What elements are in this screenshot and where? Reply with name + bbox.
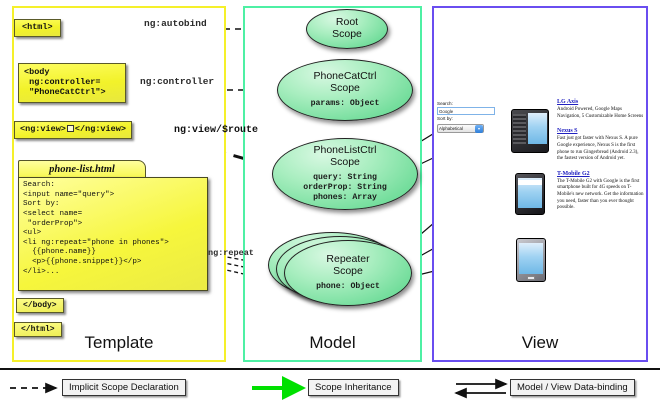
chevron-down-icon: ▾ (475, 125, 483, 133)
edge-label-controller: ng:controller (140, 76, 214, 87)
phone-thumbnail-tmobile-g2 (516, 238, 546, 282)
edge-label-repeat: ng:repeat (208, 248, 254, 258)
phone-snippet: The T-Mobile G2 with Google is the first… (557, 179, 645, 212)
note-code-body: Search: <input name="query"> Sort by: <s… (18, 177, 208, 291)
scope-root: Root Scope (306, 9, 388, 49)
list-item[interactable]: T-Mobile G2 The T-Mobile G2 with Google … (557, 171, 645, 212)
phone-list-note: phone-list.html Search: <input name="que… (18, 160, 208, 298)
sort-label: Sort by: (437, 116, 499, 122)
scope-repeater: Repeater Scope phone: Object (284, 240, 412, 306)
column-label-view: View (432, 333, 648, 353)
edge-label-autobind: ng:autobind (144, 18, 207, 29)
scope-phonelistctrl: PhoneListCtrl Scope query: String orderP… (272, 138, 418, 210)
code-box-body-open: <body ng:controller= "PhoneCatCtrl"> (18, 63, 126, 103)
legend-divider (0, 368, 660, 370)
phone-snippet: Fast just got faster with Nexus S. A pur… (557, 136, 645, 163)
code-box-body-close: </body> (16, 298, 64, 313)
scope-repeater-title: Repeater Scope (326, 254, 369, 278)
scope-root-title: Root Scope (332, 17, 362, 41)
edge-label-route: ng:view/$route (174, 125, 258, 136)
phone-thumbnail-lg-axis (511, 109, 549, 153)
view-search-form: Search: Google Sort by: Alphabetical ▾ (437, 101, 499, 133)
ngview-close-tag: </ng:view> (75, 124, 126, 134)
list-item[interactable]: Nexus S Fast just got faster with Nexus … (557, 128, 645, 163)
scope-phonecatctrl-props: params: Object (311, 99, 380, 109)
sort-select-value: Alphabetical (439, 125, 463, 133)
diagram-canvas: Template Model View <html> <body ng:cont… (0, 0, 660, 405)
legend-label-inheritance: Scope Inheritance (308, 379, 399, 396)
note-filename-tab: phone-list.html (18, 160, 146, 178)
sort-select[interactable]: Alphabetical ▾ (437, 124, 484, 133)
scope-phonecatctrl: PhoneCatCtrl Scope params: Object (277, 59, 413, 121)
ngview-placeholder-icon (67, 125, 74, 132)
phone-list: LG Axis Android Powered, Google Maps Nav… (557, 99, 645, 220)
code-box-ngview: <ng:view></ng:view> (14, 121, 132, 139)
code-box-html-open: <html> (14, 19, 61, 37)
code-box-html-close: </html> (14, 322, 62, 337)
legend: Implicit Scope Declaration Scope Inherit… (0, 374, 660, 404)
ngview-open-tag: <ng:view> (20, 124, 66, 134)
scope-phonelistctrl-title: PhoneListCtrl Scope (313, 145, 376, 169)
phone-name-link[interactable]: LG Axis (557, 99, 645, 105)
scope-repeater-props: phone: Object (316, 282, 380, 292)
phone-name-link[interactable]: T-Mobile G2 (557, 171, 645, 177)
scope-phonelistctrl-props: query: String orderProp: String phones: … (303, 173, 387, 203)
search-input[interactable]: Google (437, 107, 495, 115)
column-label-model: Model (243, 333, 422, 353)
scope-phonecatctrl-title: PhoneCatCtrl Scope (313, 71, 376, 95)
legend-label-implicit: Implicit Scope Declaration (62, 379, 186, 396)
phone-snippet: Android Powered, Google Maps Navigation,… (557, 107, 645, 120)
legend-label-databinding: Model / View Data-binding (510, 379, 635, 396)
phone-thumbnail-nexus-s (515, 173, 545, 215)
list-item[interactable]: LG Axis Android Powered, Google Maps Nav… (557, 99, 645, 120)
phone-name-link[interactable]: Nexus S (557, 128, 645, 134)
